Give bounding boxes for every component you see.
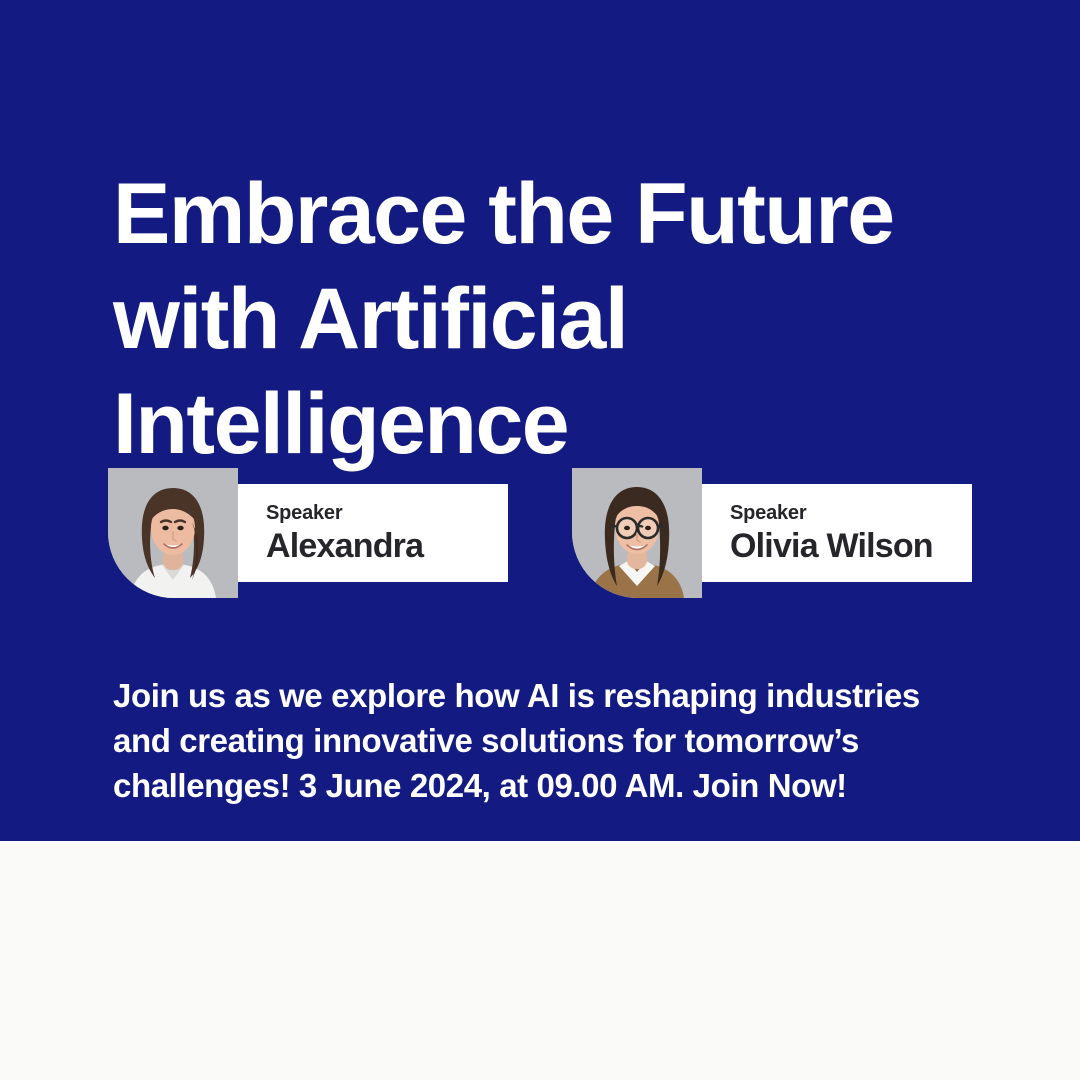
speaker-name-card: Speaker Alexandra bbox=[238, 484, 508, 582]
footer-section: Capcut Free Registration! Follow our soc… bbox=[0, 841, 1080, 1080]
event-poster: Embrace the Future with Artificial Intel… bbox=[0, 0, 1080, 1080]
speaker-card-olivia-wilson[interactable]: Speaker Olivia Wilson bbox=[572, 468, 972, 600]
headline-line-2: with Artificial bbox=[113, 267, 1013, 372]
speaker-name: Alexandra bbox=[266, 526, 508, 566]
description-line-1: Join us as we explore how AI is reshapin… bbox=[113, 673, 993, 718]
description-line-3: challenges! 3 June 2024, at 09.00 AM. Jo… bbox=[113, 763, 993, 808]
speaker-name: Olivia Wilson bbox=[730, 526, 972, 566]
description-line-2: and creating innovative solutions for to… bbox=[113, 718, 993, 763]
speaker-card-alexandra[interactable]: Speaker Alexandra bbox=[108, 468, 508, 600]
speaker-role-label: Speaker bbox=[266, 501, 508, 525]
speaker-portrait-icon bbox=[572, 468, 702, 598]
event-description: Join us as we explore how AI is reshapin… bbox=[113, 673, 993, 808]
headline-line-3: Intelligence bbox=[113, 372, 1013, 477]
speaker-list: Speaker Alexandra bbox=[0, 468, 1080, 600]
speaker-portrait-icon bbox=[108, 468, 238, 598]
headline-line-1: Embrace the Future bbox=[113, 162, 1013, 267]
page-title: Embrace the Future with Artificial Intel… bbox=[113, 162, 1013, 477]
hero-section: Embrace the Future with Artificial Intel… bbox=[0, 0, 1080, 841]
speaker-role-label: Speaker bbox=[730, 501, 972, 525]
speaker-name-card: Speaker Olivia Wilson bbox=[702, 484, 972, 582]
